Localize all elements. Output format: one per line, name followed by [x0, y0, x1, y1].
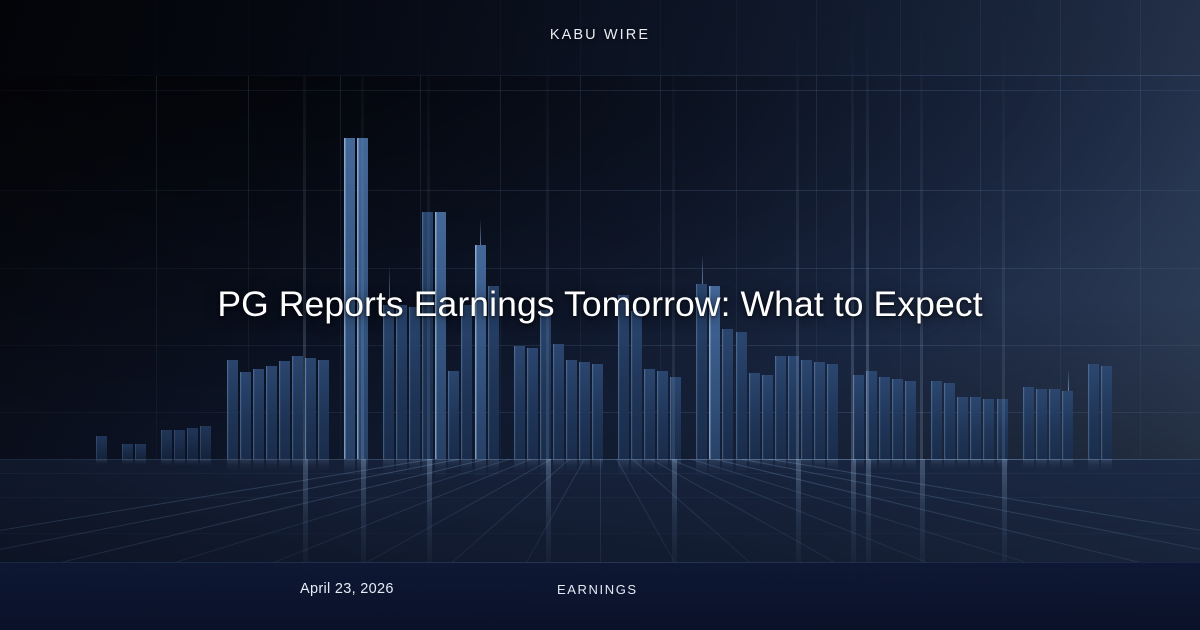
brand-title: KABU WIRE — [0, 27, 1200, 43]
chart-bar — [905, 381, 916, 459]
bar-reflection — [553, 459, 564, 477]
chart-bar — [1062, 391, 1073, 459]
footer-band: April 23, 2026 EARNINGS — [0, 562, 1200, 630]
bar-reflection — [227, 459, 238, 475]
chart-bar — [174, 430, 185, 459]
page-title: PG Reports Earnings Tomorrow: What to Ex… — [180, 282, 1020, 326]
chart-bar — [396, 305, 407, 459]
chart-bar — [1088, 364, 1099, 459]
chart-bar — [96, 436, 107, 459]
bar-reflection — [527, 459, 538, 476]
chart-bar — [292, 356, 303, 459]
bar-reflection — [135, 459, 146, 467]
chart-bar — [1049, 389, 1060, 459]
chart-bar — [749, 373, 760, 459]
chart-bar — [266, 366, 277, 459]
bar-reflection — [1062, 459, 1073, 472]
chart-bar — [240, 372, 251, 459]
chart-bar — [814, 362, 825, 459]
bar-reflection — [292, 459, 303, 475]
chart-bar — [866, 371, 877, 459]
chart-bar — [422, 212, 433, 459]
chart-bar — [553, 344, 564, 459]
bar-reflection — [736, 459, 747, 478]
chart-bar — [970, 397, 981, 459]
bar-reflection — [709, 459, 720, 482]
chart-bar — [122, 444, 133, 459]
bar-reflection — [161, 459, 172, 468]
chart-bar-wick — [1068, 369, 1069, 391]
bar-reflection — [344, 459, 355, 485]
bar-reflection — [762, 459, 773, 473]
bar-reflection — [409, 459, 420, 480]
bar-reflection — [827, 459, 838, 475]
chart-bar — [514, 346, 525, 459]
chart-bar — [435, 212, 446, 459]
bar-reflection — [174, 459, 185, 468]
chart-bar — [853, 375, 864, 459]
chart-bar-wick — [480, 219, 481, 245]
chart-bar — [892, 379, 903, 459]
chart-bar — [827, 364, 838, 459]
chart-bar — [475, 245, 486, 459]
bar-reflection — [892, 459, 903, 473]
chart-bar — [957, 397, 968, 459]
chart-bar — [722, 329, 733, 459]
bar-reflection — [957, 459, 968, 471]
bar-reflection — [657, 459, 668, 474]
chart-bar — [200, 426, 211, 459]
chart-bar — [1036, 389, 1047, 459]
chart-bar — [657, 371, 668, 459]
bar-reflection — [579, 459, 590, 475]
chart-bar — [983, 399, 994, 459]
bar-reflection — [983, 459, 994, 471]
chart-bar — [279, 361, 290, 459]
chart-bar — [135, 444, 146, 459]
bar-reflection — [814, 459, 825, 475]
chart-bar — [801, 360, 812, 459]
bar-reflection — [879, 459, 890, 473]
bar-reflection — [318, 459, 329, 475]
chart-bar — [788, 356, 799, 459]
chart-bar — [670, 377, 681, 459]
chart-bar — [227, 360, 238, 459]
bar-reflection — [96, 459, 107, 467]
chart-bar-wick — [702, 254, 703, 284]
bar-reflection — [240, 459, 251, 474]
bar-reflection — [644, 459, 655, 474]
bar-reflection — [253, 459, 264, 474]
bar-reflection — [266, 459, 277, 474]
chart-bar — [762, 375, 773, 459]
bar-reflection — [1049, 459, 1060, 472]
bar-reflection — [696, 459, 707, 483]
bar-reflection — [396, 459, 407, 480]
bar-reflection — [1023, 459, 1034, 472]
bar-reflection — [435, 459, 446, 485]
bar-reflection — [931, 459, 942, 473]
chart-bar — [1023, 387, 1034, 459]
bar-reflection — [122, 459, 133, 467]
chart-bar — [161, 430, 172, 459]
bar-reflection — [448, 459, 459, 474]
bar-reflection — [383, 459, 394, 480]
chart-bar — [566, 360, 577, 459]
chart-bar — [383, 305, 394, 459]
bar-reflection — [944, 459, 955, 473]
bar-reflection — [592, 459, 603, 475]
chart-bar — [879, 377, 890, 459]
chart-bar — [461, 305, 472, 459]
category-label: EARNINGS — [557, 582, 638, 597]
chart-bar — [579, 362, 590, 459]
bar-reflection — [475, 459, 486, 485]
bar-reflection — [1101, 459, 1112, 474]
chart-bar — [305, 358, 316, 459]
bar-reflection — [200, 459, 211, 468]
bar-reflection — [775, 459, 786, 475]
chart-bar — [409, 307, 420, 459]
chart-bar — [527, 348, 538, 459]
chart-bar — [253, 369, 264, 459]
bar-reflection — [749, 459, 760, 474]
bar-reflection — [461, 459, 472, 480]
chart-bar — [931, 381, 942, 459]
bar-reflection — [801, 459, 812, 475]
chart-bar — [187, 428, 198, 459]
bar-reflection — [187, 459, 198, 468]
bar-reflection — [1088, 459, 1099, 475]
chart-bar — [944, 383, 955, 459]
chart-bar — [592, 364, 603, 459]
bar-reflection — [488, 459, 499, 482]
chart-bar — [1101, 366, 1112, 459]
bar-reflection — [279, 459, 290, 475]
bar-reflection — [566, 459, 577, 475]
chart-bar — [736, 332, 747, 459]
chart-bar — [318, 360, 329, 459]
bar-reflection — [905, 459, 916, 473]
bar-reflection — [1036, 459, 1047, 472]
bar-reflection — [514, 459, 525, 476]
footer-content: April 23, 2026 EARNINGS — [0, 562, 1200, 630]
og-card: KABU WIRE PG Reports Earnings Tomorrow: … — [0, 0, 1200, 630]
bar-reflection — [970, 459, 981, 471]
chart-bar — [448, 371, 459, 459]
bar-reflection — [722, 459, 733, 478]
chart-bar — [631, 311, 642, 459]
chart-bar — [540, 310, 551, 459]
chart-bar — [775, 356, 786, 459]
chart-bar — [644, 369, 655, 459]
chart-bar — [997, 399, 1008, 459]
publish-date: April 23, 2026 — [300, 581, 394, 597]
bar-reflection — [618, 459, 629, 481]
bar-reflection — [631, 459, 642, 480]
